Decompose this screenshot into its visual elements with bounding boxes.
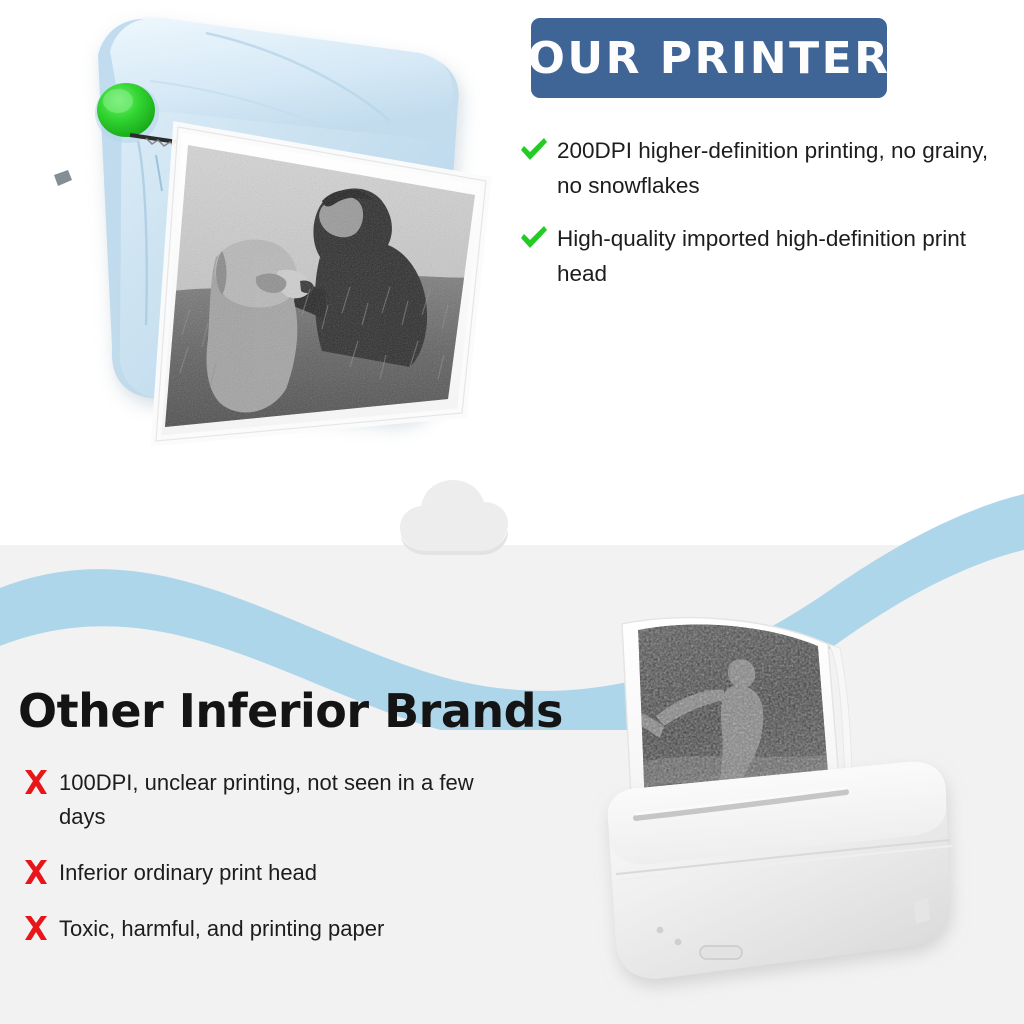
usb-port [700,946,742,959]
pros-item-text: High-quality imported high-definition pr… [557,221,1019,291]
printed-photo [150,127,490,445]
pros-item-text: 200DPI higher-definition printing, no gr… [557,133,1019,203]
list-item: Toxic, harmful, and printing paper [22,912,522,946]
white-thermal-printer [578,612,1008,1012]
page-title: Other Inferior Brands [18,684,563,738]
list-item: Inferior ordinary print head [22,856,522,890]
side-port [54,170,72,186]
indicator-dot [675,939,682,946]
cons-item-text: Toxic, harmful, and printing paper [59,912,384,946]
banner-title: OUR PRINTER [527,33,890,84]
list-item: 100DPI, unclear printing, not seen in a … [22,766,522,834]
printer-body [608,762,952,979]
list-item: High-quality imported high-definition pr… [519,221,1019,291]
green-check-icon [519,221,557,256]
list-item: 200DPI higher-definition printing, no gr… [519,133,1019,203]
pros-list: 200DPI higher-definition printing, no gr… [519,133,1019,309]
red-cross-icon [22,766,59,800]
red-cross-icon [22,856,59,890]
product-feature-image: OUR PRINTER 200DPI higher-definition pri… [0,0,1024,1024]
green-check-icon [519,133,557,168]
blue-thermal-printer [0,0,530,495]
red-cross-icon [22,912,59,946]
our-printer-banner: OUR PRINTER [531,18,887,98]
cons-item-text: Inferior ordinary print head [59,856,317,890]
cons-list: 100DPI, unclear printing, not seen in a … [22,766,522,968]
indicator-dot [657,927,664,934]
cons-item-text: 100DPI, unclear printing, not seen in a … [59,766,522,834]
